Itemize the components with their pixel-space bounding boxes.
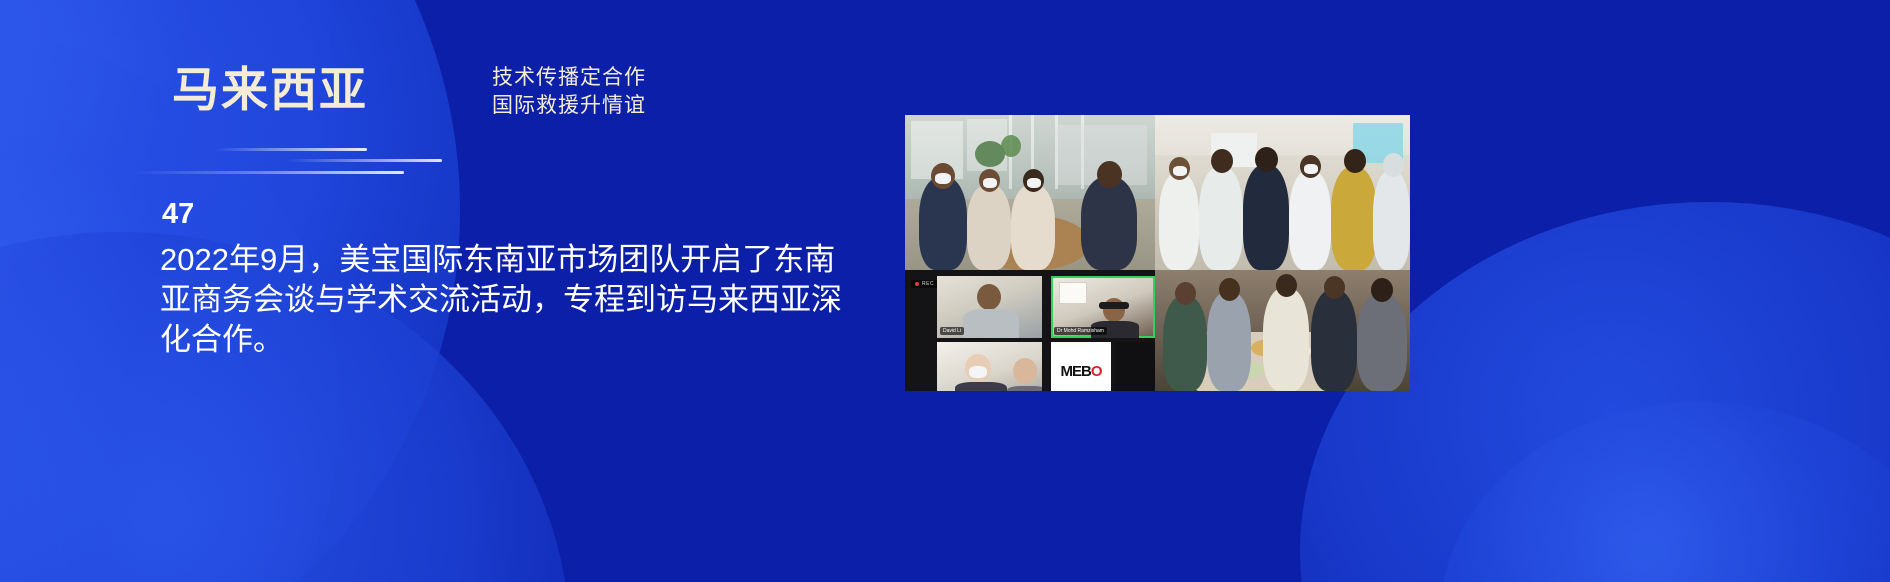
title-underline-1 [215, 148, 367, 151]
item-number: 47 [162, 200, 194, 229]
participant-name-1: David Li [940, 327, 964, 335]
collage-top-row [905, 115, 1410, 270]
recording-label: REC [922, 281, 934, 287]
video-call-grid: REC David Li Dr Mohd Ramzisham [905, 270, 1155, 391]
title-underline-group [0, 145, 520, 185]
title-underline-3 [132, 171, 404, 174]
mebo-logo: MEBO [1060, 364, 1101, 379]
video-tile-participant-1[interactable]: David Li [937, 276, 1042, 338]
photo-clinic-group [1155, 115, 1410, 270]
photo-collage: REC David Li Dr Mohd Ramzisham [905, 115, 1410, 391]
brand-logo-tile: MEBO [1051, 342, 1111, 391]
recording-badge: REC [911, 280, 938, 288]
subtitle-line-2: 国际救援升情谊 [492, 92, 646, 120]
subtitle: 技术传播定合作 国际救援升情谊 [492, 64, 646, 120]
photo-dinner-group [1155, 270, 1410, 391]
body-paragraph: 2022年9月，美宝国际东南亚市场团队开启了东南亚商务会谈与学术交流活动，专程到… [160, 240, 860, 360]
page-title: 马来西亚 [172, 66, 368, 113]
subtitle-line-1: 技术传播定合作 [492, 64, 646, 92]
participant-name-2: Dr Mohd Ramzisham [1054, 327, 1107, 335]
video-tile-participant-4[interactable] [1115, 342, 1155, 391]
slide-root: 马来西亚 技术传播定合作 国际救援升情谊 47 2022年9月，美宝国际东南亚市… [0, 0, 1890, 582]
collage-bottom-row: REC David Li Dr Mohd Ramzisham [905, 270, 1410, 391]
video-tile-participant-2[interactable]: Dr Mohd Ramzisham [1051, 276, 1155, 338]
video-tile-participant-3[interactable] [937, 342, 1042, 391]
title-underline-2 [287, 159, 442, 162]
photo-meeting-group [905, 115, 1155, 270]
record-dot-icon [915, 282, 919, 286]
